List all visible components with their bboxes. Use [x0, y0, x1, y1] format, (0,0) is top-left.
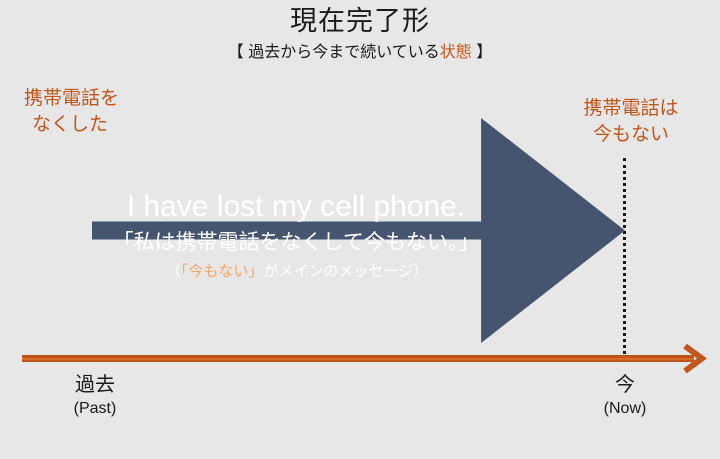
duration-arrow-shape	[92, 118, 625, 343]
timeline-axis-highlight	[22, 358, 694, 360]
timeline-axis	[22, 355, 694, 362]
timeline-arrowhead-icon	[681, 342, 707, 375]
annotation-now-line1: 携帯電話は	[583, 98, 678, 119]
subtitle-text-before: 【 過去から今まで続いている	[228, 44, 440, 61]
arrow-note-open: （	[166, 263, 181, 280]
arrow-note-rest: がメインのメッセージ）	[263, 263, 428, 280]
english-sentence: I have lost my cell phone.	[127, 188, 466, 226]
timeline-label-now: 今 (Now)	[570, 372, 680, 420]
arrow-note: （「今もない」がメインのメッセージ）	[166, 260, 428, 284]
subtitle-highlight: 状態	[440, 44, 472, 61]
annotation-past-line2: なくした	[24, 112, 119, 138]
page-subtitle: 【 過去から今まで続いている状態 】	[0, 42, 720, 64]
annotation-now-line2: 今もない	[556, 122, 706, 148]
timeline-label-past: 過去 (Past)	[40, 372, 150, 420]
now-marker-dotted-line	[623, 158, 626, 360]
timeline-label-now-jp: 今	[570, 372, 680, 398]
annotation-past-line1: 携帯電話を	[24, 88, 119, 109]
page-title: 現在完了形	[0, 4, 720, 38]
timeline-label-now-en: (Now)	[570, 398, 680, 420]
annotation-past: 携帯電話を なくした	[24, 86, 119, 138]
annotation-now: 携帯電話は 今もない	[556, 96, 706, 148]
timeline-label-past-jp: 過去	[40, 372, 150, 398]
arrow-note-highlight: 「今もない」	[181, 263, 264, 280]
slide-canvas: 現在完了形 【 過去から今まで続いている状態 】 携帯電話を なくした 携帯電話…	[0, 0, 720, 459]
subtitle-text-after: 】	[472, 44, 492, 61]
timeline-label-past-en: (Past)	[40, 398, 150, 420]
